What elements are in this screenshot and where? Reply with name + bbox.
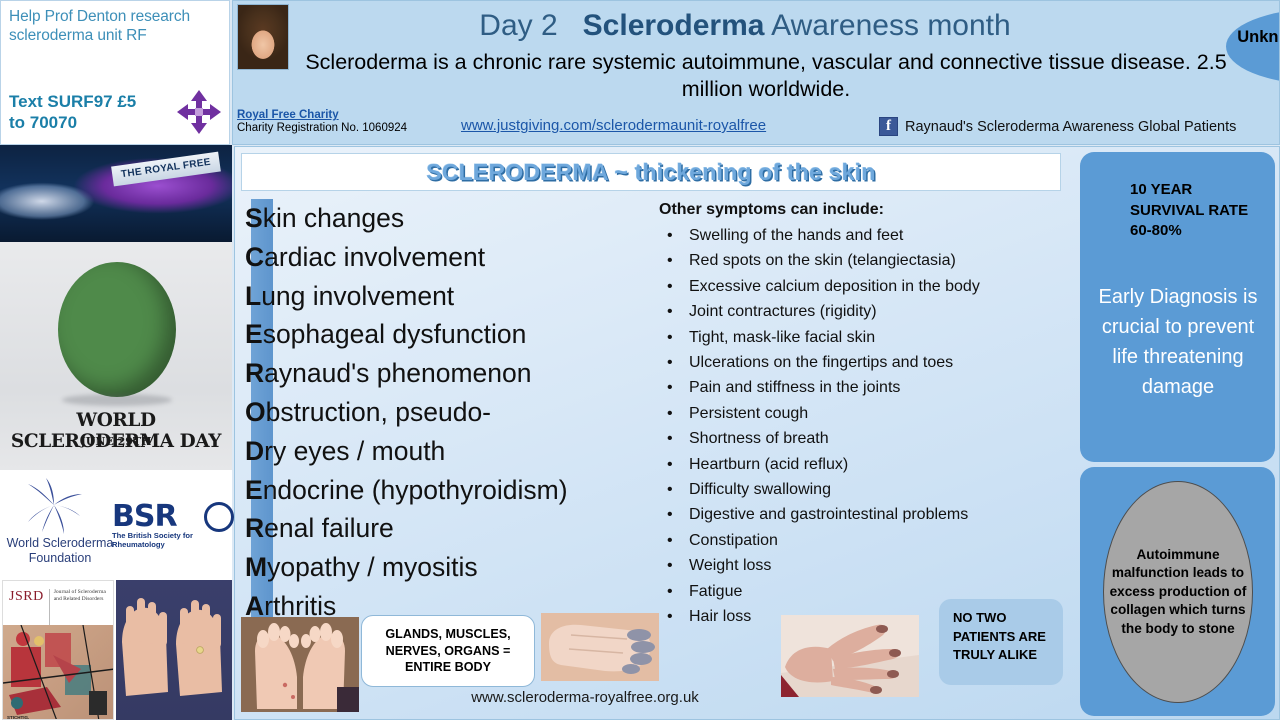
section-title: SCLERODERMA ~ thickening of the skin: [426, 159, 875, 186]
symptom-label: Joint contractures (rigidity): [689, 299, 877, 324]
title-tail: Awareness month: [771, 9, 1011, 42]
left-sidebar: THE ROYAL FREE WORLD SCLERODERMA DAY JUN…: [0, 145, 232, 720]
bullet-icon: •: [659, 604, 689, 629]
world-day-subtitle: JUNE 29TH: [0, 435, 232, 448]
symptom-label: Weight loss: [689, 553, 771, 578]
symptom-label: Digestive and gastrointestinal problems: [689, 502, 968, 527]
globe-shadow: [62, 394, 172, 406]
bullet-icon: •: [659, 477, 689, 502]
facebook-row[interactable]: f Raynaud's Scleroderma Awareness Global…: [879, 117, 1236, 136]
unknown-cause-text: Unknown Cause, No cure: [1226, 27, 1280, 67]
donate-sms-line2: to 70070: [9, 112, 136, 133]
acronym-row: Cardiac involvement: [245, 238, 655, 277]
bsr-logo: BSR The British Society for Rheumatology: [112, 502, 230, 549]
bullet-icon: •: [659, 528, 689, 553]
acronym-letter: S: [245, 203, 263, 233]
symptom-label: Tight, mask-like facial skin: [689, 325, 875, 350]
acronym-letter: C: [245, 242, 264, 272]
symptom-list-item: •Digestive and gastrointestinal problems: [659, 502, 1109, 527]
bullet-icon: •: [659, 299, 689, 324]
justgiving-link[interactable]: www.justgiving.com/sclerodermaunit-royal…: [461, 117, 766, 134]
symptom-label: Shortness of breath: [689, 426, 829, 451]
acronym-letter: M: [245, 552, 267, 582]
bullet-icon: •: [659, 401, 689, 426]
charity-name[interactable]: Royal Free Charity: [237, 109, 407, 121]
bullet-icon: •: [659, 375, 689, 400]
acronym-text: ndocrine (hypothyroidism): [263, 475, 568, 505]
acronym-row: Obstruction, pseudo-: [245, 393, 655, 432]
symptom-label: Difficulty swallowing: [689, 477, 831, 502]
symptom-list-item: •Persistent cough: [659, 401, 1109, 426]
header-banner: Day 2 Scleroderma Awareness month Sclero…: [232, 0, 1280, 145]
bullet-icon: •: [659, 248, 689, 273]
autoimmune-text: Autoimmune malfunction leads to excess p…: [1104, 546, 1252, 639]
page-title: Day 2 Scleroderma Awareness month: [305, 9, 1185, 43]
acronym-row: Myopathy / myositis: [245, 548, 655, 587]
bullet-icon: •: [659, 452, 689, 477]
symptom-list-item: •Joint contractures (rigidity): [659, 299, 1109, 324]
charity-registration: Charity Registration No. 1060924: [237, 122, 407, 134]
bullet-icon: •: [659, 325, 689, 350]
acronym-text: enal failure: [264, 513, 394, 543]
acronym-row: Arthritis: [245, 587, 655, 626]
acronym-row: Raynaud's phenomenon: [245, 354, 655, 393]
glands-muscles-callout: GLANDS, MUSCLES, NERVES, ORGANS = ENTIRE…: [361, 615, 535, 687]
day-label: Day 2: [479, 9, 557, 42]
jsrd-artwork-credit: STICHTIG.: [7, 715, 29, 720]
acronym-text: ry eyes / mouth: [264, 436, 445, 466]
symptom-list-item: •Excessive calcium deposition in the bod…: [659, 274, 1109, 299]
symptom-list-item: •Shortness of breath: [659, 426, 1109, 451]
acronym-text: aynaud's phenomenon: [264, 358, 531, 388]
acronym-row: Endocrine (hypothyroidism): [245, 471, 655, 510]
wsf-logo-text: World Scleroderma Foundation: [6, 536, 114, 566]
acronym-letter: R: [245, 358, 264, 388]
acronym-text: yopathy / myositis: [267, 552, 478, 582]
header-subtitle: Scleroderma is a chronic rare systemic a…: [291, 49, 1241, 103]
autoimmune-info-card: Autoimmune malfunction leads to excess p…: [1080, 467, 1275, 716]
world-scleroderma-day-panel: WORLD SCLERODERMA DAY JUNE 29TH: [0, 242, 232, 470]
main-content-panel: SCLERODERMA ~ thickening of the skin Ski…: [234, 146, 1280, 720]
bsr-full-name: The British Society for Rheumatology: [112, 531, 230, 549]
jsrd-full-title: Journal of Scleroderma and Related Disor…: [49, 589, 113, 625]
no-two-patients-callout: NO TWO PATIENTS ARE TRULY ALIKE: [939, 599, 1063, 685]
symptom-list-item: •Heartburn (acid reflux): [659, 452, 1109, 477]
royal-free-sign-text: THE ROYAL FREE: [111, 152, 221, 187]
other-symptoms-list: •Swelling of the hands and feet•Red spot…: [659, 223, 1109, 630]
symptom-label: Excessive calcium deposition in the body: [689, 274, 980, 299]
donate-sms-line1: Text SURF97 £5: [9, 91, 136, 112]
symptom-label: Ulcerations on the fingertips and toes: [689, 350, 953, 375]
other-symptoms-heading: Other symptoms can include:: [659, 201, 1109, 219]
facebook-icon[interactable]: f: [879, 117, 898, 136]
acronym-text: sophageal dysfunction: [263, 319, 527, 349]
survival-rate-text: 10 YEAR SURVIVAL RATE 60-80%: [1130, 180, 1270, 242]
bullet-icon: •: [659, 426, 689, 451]
footer-url[interactable]: www.scleroderma-royalfree.org.uk: [235, 689, 935, 706]
symptom-label: Red spots on the skin (telangiectasia): [689, 248, 956, 273]
palm-fingertips-photo: [781, 615, 919, 697]
symptom-label: Persistent cough: [689, 401, 808, 426]
royal-free-hospital-photo: THE ROYAL FREE: [0, 145, 232, 242]
bsr-swirl-icon: [204, 502, 234, 532]
jsrd-cover-header: JSRD Journal of Scleroderma and Related …: [3, 581, 113, 625]
facebook-page-label: Raynaud's Scleroderma Awareness Global P…: [905, 119, 1236, 135]
donate-sms-instructions: Text SURF97 £5 to 70070: [9, 91, 136, 133]
symptom-list-item: •Difficulty swallowing: [659, 477, 1109, 502]
acronym-letter: E: [245, 475, 263, 505]
bullet-icon: •: [659, 274, 689, 299]
symptom-label: Hair loss: [689, 604, 751, 629]
early-diagnosis-text: Early Diagnosis is crucial to prevent li…: [1088, 282, 1268, 402]
jsrd-cover-artwork: STICHTIG.: [3, 625, 113, 720]
bullet-icon: •: [659, 579, 689, 604]
acronym-row: Renal failure: [245, 509, 655, 548]
scleroderma-acronym-list: Skin changesCardiac involvementLung invo…: [245, 199, 655, 626]
symptom-list-item: •Ulcerations on the fingertips and toes: [659, 350, 1109, 375]
donate-action-row: Text SURF97 £5 to 70070: [9, 88, 223, 136]
title-bold: Scleroderma: [583, 9, 765, 42]
acronym-letter: R: [245, 513, 264, 543]
symptom-label: Swelling of the hands and feet: [689, 223, 903, 248]
acronym-text: bstruction, pseudo-: [266, 397, 491, 427]
acronym-letter: O: [245, 397, 266, 427]
symptom-list-item: •Constipation: [659, 528, 1109, 553]
jsrd-journal-cover: JSRD Journal of Scleroderma and Related …: [2, 580, 114, 720]
symptom-label: Fatigue: [689, 579, 742, 604]
scleroderma-hands-photo: [116, 580, 232, 720]
acronym-text: ardiac involvement: [264, 242, 485, 272]
glands-callout-text: GLANDS, MUSCLES, NERVES, ORGANS = ENTIRE…: [362, 626, 534, 676]
symptom-list-item: •Red spots on the skin (telangiectasia): [659, 248, 1109, 273]
other-symptoms-section: Other symptoms can include: •Swelling of…: [659, 201, 1109, 630]
symptom-label: Constipation: [689, 528, 778, 553]
bullet-icon: •: [659, 223, 689, 248]
symptom-label: Pain and stiffness in the joints: [689, 375, 900, 400]
donate-panel: Help Prof Denton research scleroderma un…: [0, 0, 230, 145]
charity-info: Royal Free Charity Charity Registration …: [237, 109, 407, 134]
symptom-list-item: •Tight, mask-like facial skin: [659, 325, 1109, 350]
acronym-row: Lung involvement: [245, 277, 655, 316]
acronym-row: Skin changes: [245, 199, 655, 238]
symptom-list-item: •Pain and stiffness in the joints: [659, 375, 1109, 400]
donate-heading: Help Prof Denton research scleroderma un…: [9, 7, 221, 45]
acronym-letter: D: [245, 436, 264, 466]
four-way-arrows-icon: [175, 88, 223, 136]
top-row: Help Prof Denton research scleroderma un…: [0, 0, 1280, 145]
acronym-row: Esophageal dysfunction: [245, 315, 655, 354]
survival-info-card: 10 YEAR SURVIVAL RATE 60-80% Early Diagn…: [1080, 152, 1275, 462]
portrait-photo: [237, 4, 289, 70]
pinwheel-star-icon: [24, 476, 84, 534]
bullet-icon: •: [659, 502, 689, 527]
world-scleroderma-foundation-logo: World Scleroderma Foundation: [6, 476, 114, 566]
acronym-letter: A: [245, 591, 264, 621]
bullet-icon: •: [659, 350, 689, 375]
no-two-patients-text: NO TWO PATIENTS ARE TRULY ALIKE: [953, 610, 1046, 662]
autoimmune-oval: Autoimmune malfunction leads to excess p…: [1103, 481, 1253, 703]
acronym-text: rthritis: [264, 591, 336, 621]
acronym-letter: E: [245, 319, 263, 349]
bullet-icon: •: [659, 553, 689, 578]
symptom-label: Heartburn (acid reflux): [689, 452, 848, 477]
acronym-letter: L: [245, 281, 261, 311]
symptom-list-item: •Weight loss: [659, 553, 1109, 578]
acronym-row: Dry eyes / mouth: [245, 432, 655, 471]
acronym-text: ung involvement: [261, 281, 454, 311]
acronym-text: kin changes: [263, 203, 404, 233]
section-title-box: SCLERODERMA ~ thickening of the skin: [241, 153, 1061, 191]
symptom-list-item: •Swelling of the hands and feet: [659, 223, 1109, 248]
partner-logos-panel: World Scleroderma Foundation BSR The Bri…: [0, 470, 232, 578]
jsrd-abbreviation: JSRD: [9, 589, 44, 625]
globe-icon: [58, 262, 176, 397]
